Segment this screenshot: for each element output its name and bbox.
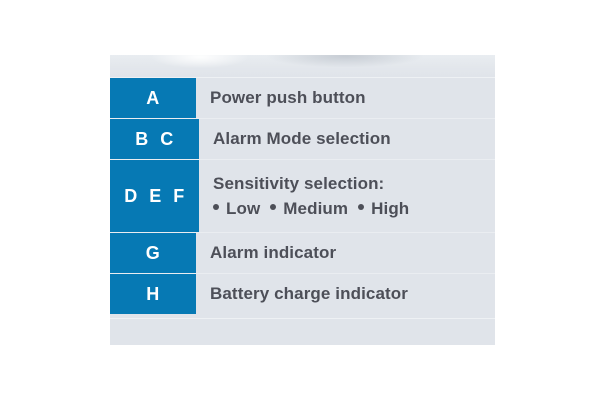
- sensitivity-option-label: High: [371, 200, 409, 218]
- legend-row: H Battery charge indicator: [110, 273, 495, 314]
- bullet-dot-icon: [270, 204, 276, 210]
- legend-description-line: Alarm indicator: [210, 244, 495, 262]
- legend-description-a: Power push button: [196, 78, 495, 118]
- legend-rows: A Power push button B C Alarm Mode selec…: [110, 77, 495, 314]
- sensitivity-option-low: Low: [213, 200, 260, 218]
- legend-tag-def: D E F: [110, 160, 199, 232]
- legend-tag-a: A: [110, 78, 196, 118]
- legend-description-bc: Alarm Mode selection: [199, 119, 495, 159]
- legend-description-line: Battery charge indicator: [210, 285, 495, 303]
- legend-row: D E F Sensitivity selection: Low Medium …: [110, 159, 495, 232]
- card-top-sheen: [110, 55, 495, 77]
- bullet-dot-icon: [213, 204, 219, 210]
- sensitivity-option-high: High: [358, 200, 409, 218]
- legend-tag-g: G: [110, 233, 196, 273]
- sensitivity-option-label: Medium: [283, 200, 348, 218]
- legend-description-line: Power push button: [210, 89, 495, 107]
- legend-description-g: Alarm indicator: [196, 233, 495, 273]
- legend-row: G Alarm indicator: [110, 232, 495, 273]
- card-bottom-band: [110, 318, 495, 345]
- legend-description-line: Alarm Mode selection: [213, 130, 495, 148]
- sensitivity-option-label: Low: [226, 200, 260, 218]
- legend-description-def: Sensitivity selection: Low Medium High: [199, 160, 495, 232]
- sensitivity-options: Low Medium High: [213, 200, 495, 218]
- legend-tag-bc: B C: [110, 119, 199, 159]
- legend-description-line: Sensitivity selection:: [213, 175, 495, 193]
- sensitivity-option-medium: Medium: [270, 200, 348, 218]
- bullet-dot-icon: [358, 204, 364, 210]
- legend-row: A Power push button: [110, 77, 495, 118]
- legend-description-h: Battery charge indicator: [196, 274, 495, 314]
- legend-card: A Power push button B C Alarm Mode selec…: [110, 55, 495, 345]
- legend-row: B C Alarm Mode selection: [110, 118, 495, 159]
- legend-tag-h: H: [110, 274, 196, 314]
